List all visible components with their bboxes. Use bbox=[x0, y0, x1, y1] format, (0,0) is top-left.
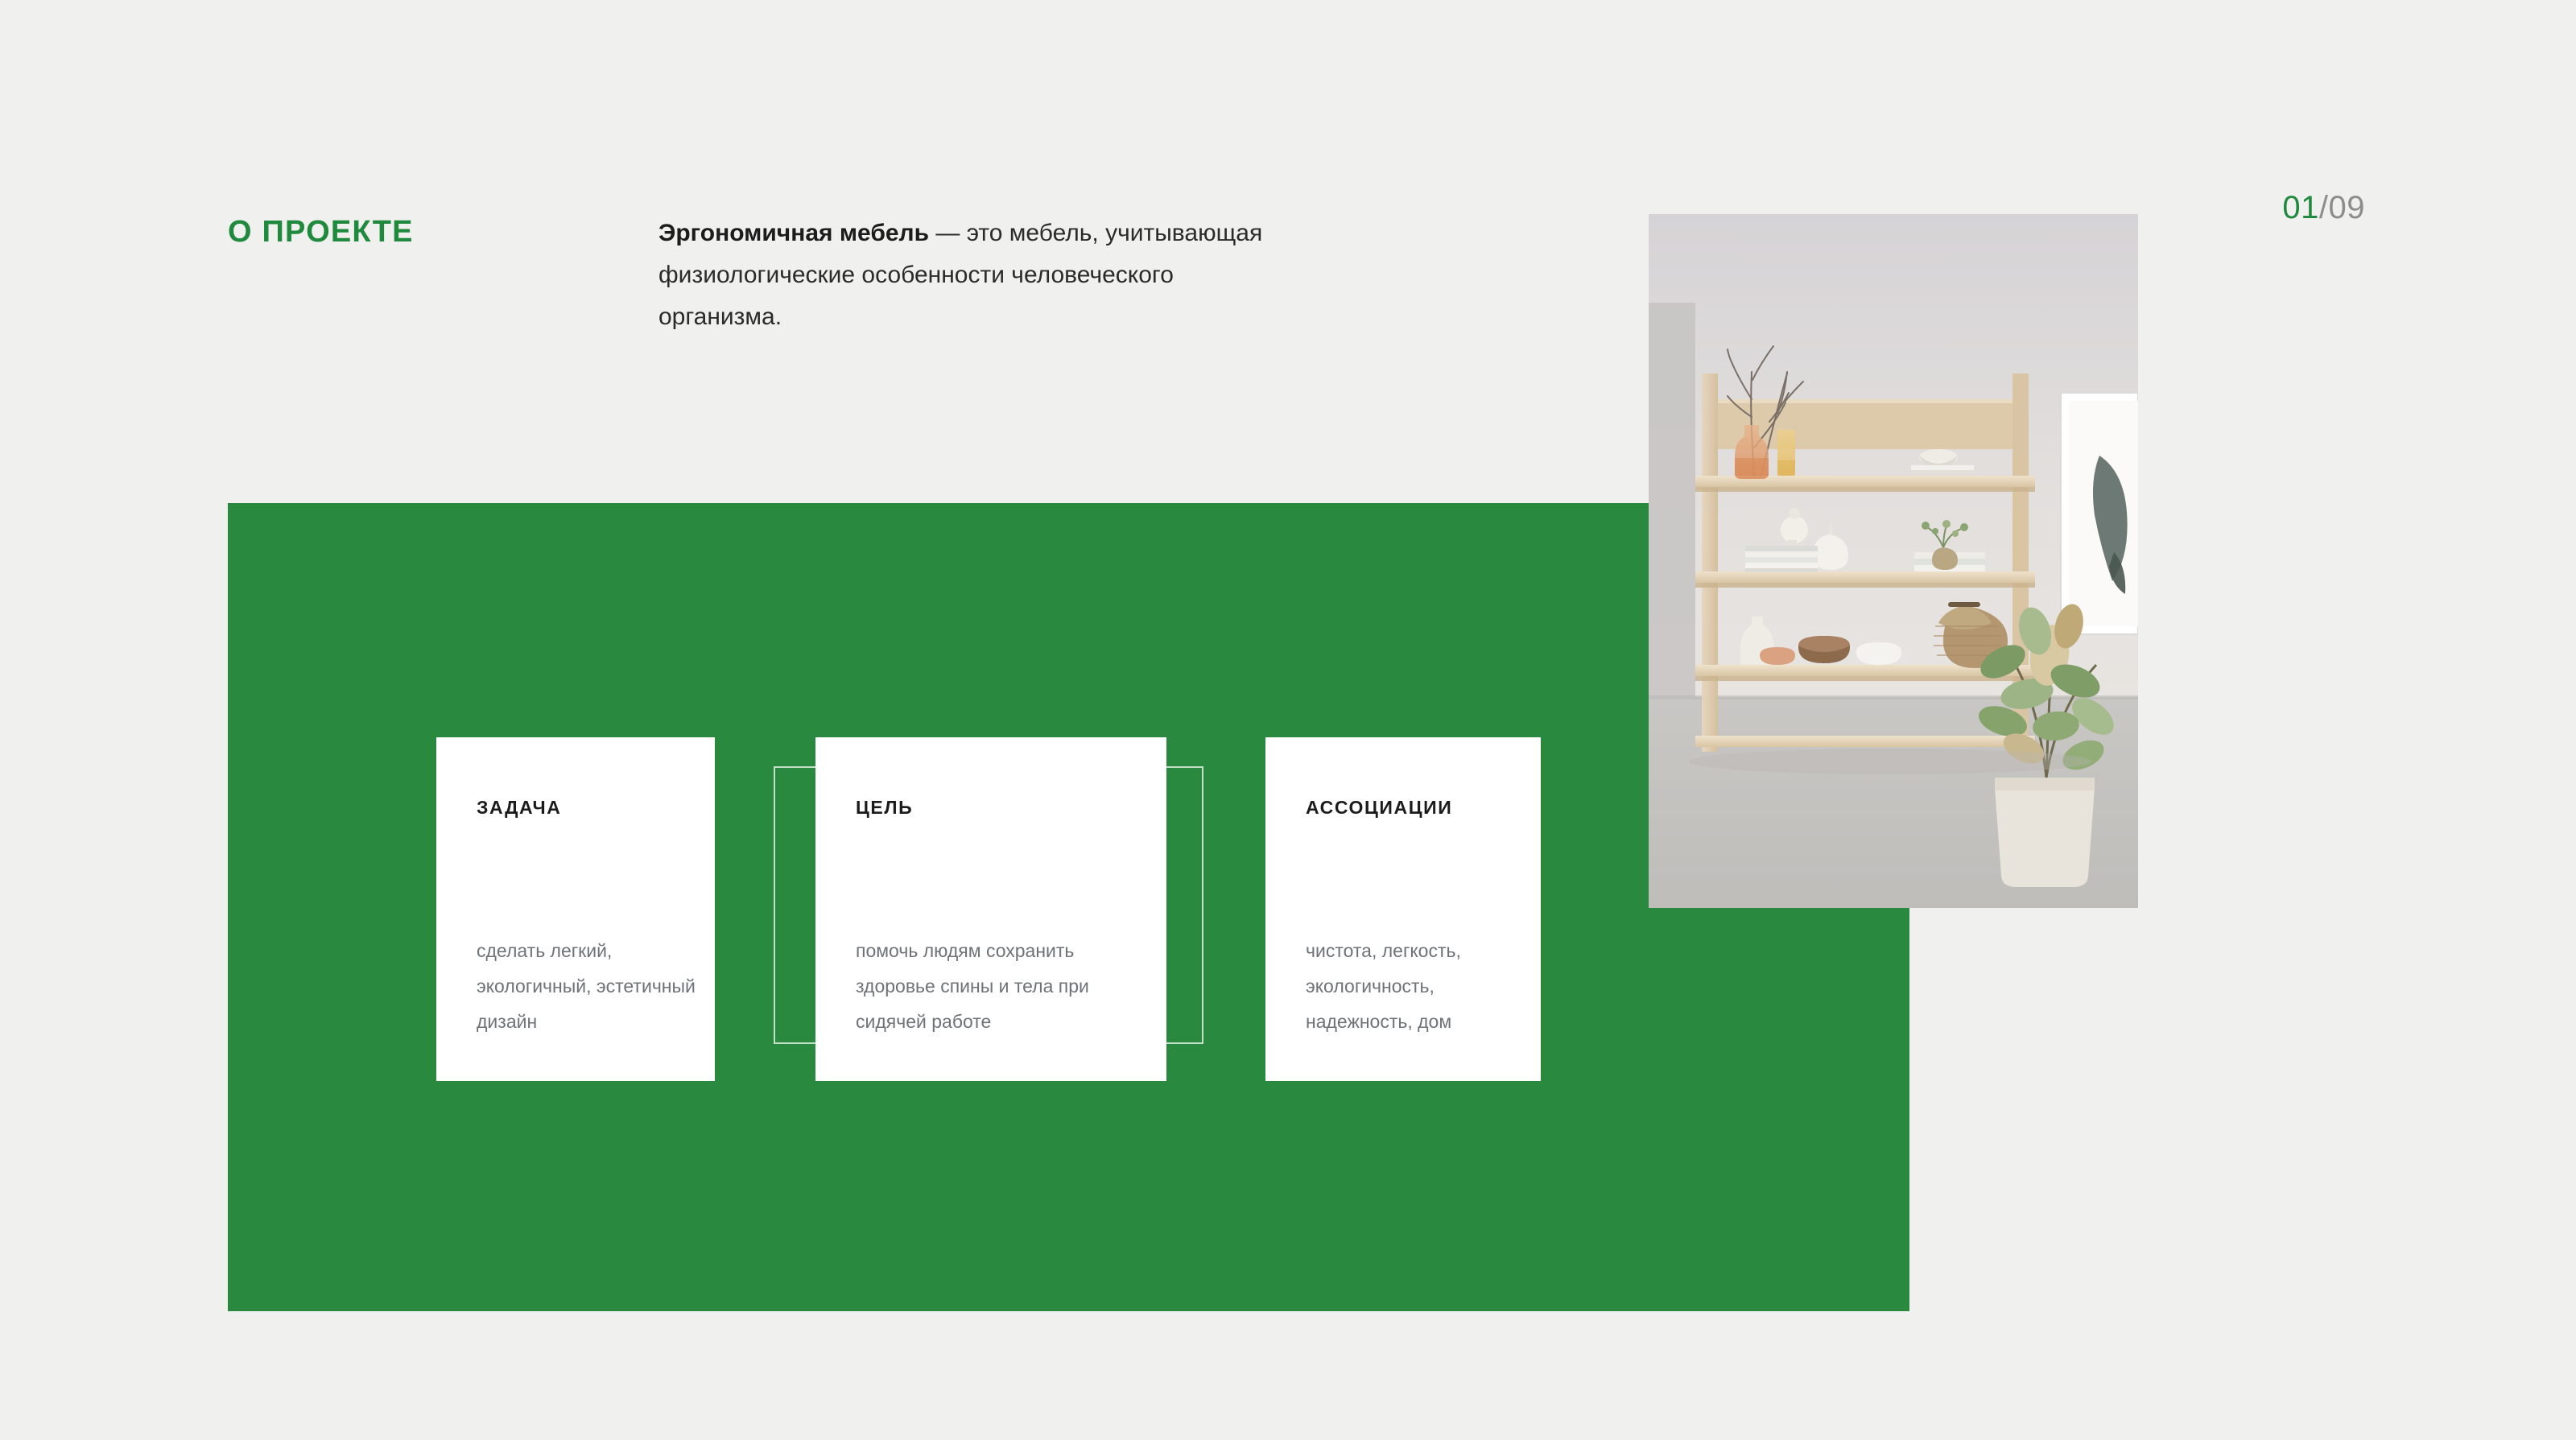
slide-pager: 01/09 bbox=[2282, 190, 2365, 226]
card-cel-body: помочь людям сохранить здоровье спины и … bbox=[856, 933, 1147, 1039]
card-cel[interactable]: ЦЕЛЬ помочь людям сохранить здоровье спи… bbox=[815, 737, 1166, 1081]
intro-lead: Эргономичная мебель bbox=[658, 220, 929, 246]
card-zadacha-title: ЗАДАЧА bbox=[477, 797, 562, 819]
card-associacii-title: АССОЦИАЦИИ bbox=[1306, 797, 1452, 819]
card-zadacha[interactable]: ЗАДАЧА сделать легкий, экологичный, эсте… bbox=[436, 737, 715, 1081]
card-zadacha-body: сделать легкий, экологичный, эстетичный … bbox=[477, 933, 696, 1039]
interior-photo-illustration bbox=[1649, 214, 2138, 908]
pager-total: 09 bbox=[2329, 190, 2366, 225]
intro-paragraph: Эргономичная мебель — это мебель, учитыв… bbox=[658, 212, 1302, 338]
pager-separator: / bbox=[2319, 190, 2329, 225]
card-associacii-body: чистота, легкость, экологичность, надежн… bbox=[1306, 933, 1521, 1039]
pager-current: 01 bbox=[2282, 190, 2319, 225]
card-associacii[interactable]: АССОЦИАЦИИ чистота, легкость, экологично… bbox=[1265, 737, 1541, 1081]
card-cel-title: ЦЕЛЬ bbox=[856, 797, 913, 819]
page-title: О ПРОЕКТЕ bbox=[228, 215, 414, 250]
interior-photo bbox=[1649, 214, 2138, 908]
